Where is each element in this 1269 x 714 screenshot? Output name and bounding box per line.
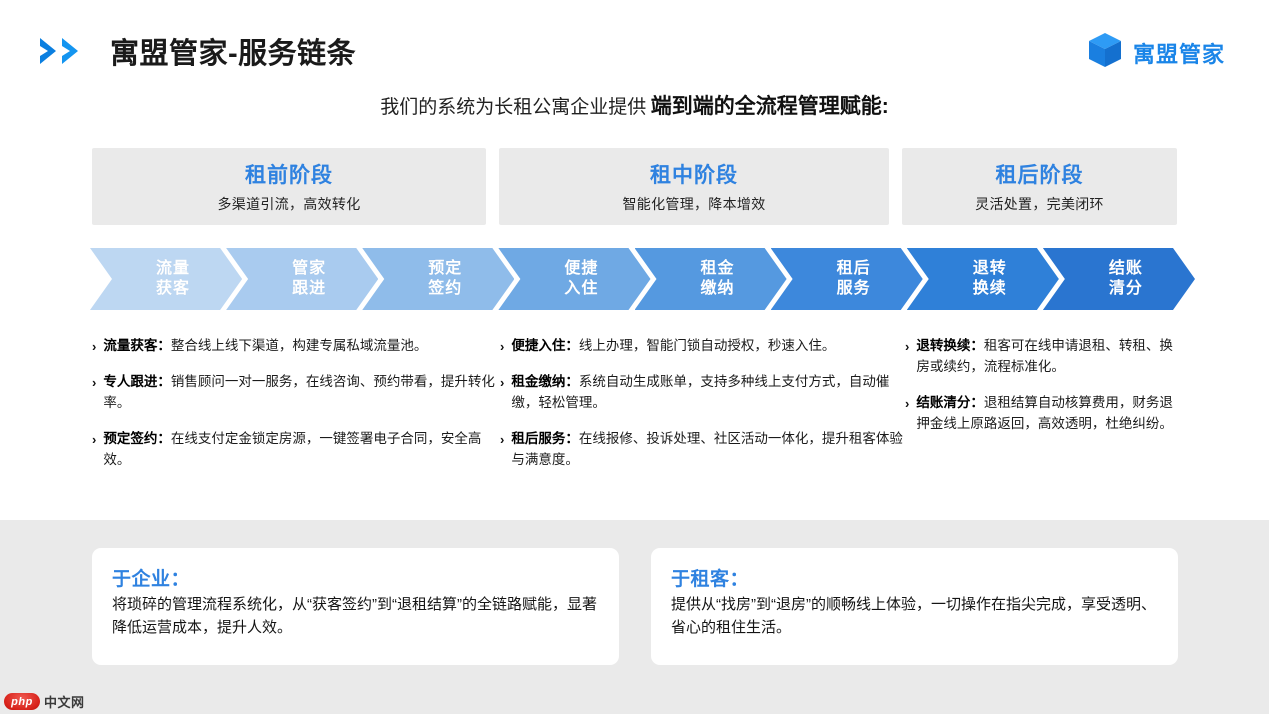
chevron-right-icon: ›: [92, 336, 96, 357]
process-flow-bar: 流量获客管家跟进预定签约便捷入住租金缴纳租后服务退转换续结账清分: [90, 248, 1179, 310]
brand-name: 寓盟管家: [1133, 37, 1225, 69]
benefit-card-row: 于企业： 将琐碎的管理流程系统化，从“获客签约”到“退租结算”的全链路赋能，显著…: [92, 548, 1178, 665]
benefit-card-enterprise: 于企业： 将琐碎的管理流程系统化，从“获客签约”到“退租结算”的全链路赋能，显著…: [92, 548, 619, 665]
benefit-card-tenant: 于租客： 提供从“找房”到“退房”的顺畅线上体验，一切操作在指尖完成，享受透明、…: [651, 548, 1178, 665]
bullet-item: ›结账清分：退租结算自动核算费用，财务退押金线上原路返回，高效透明，杜绝纠纷。: [905, 393, 1182, 435]
chevron-right-icon: ›: [500, 372, 504, 393]
php-badge-icon: php: [4, 693, 40, 710]
bullet-columns: ›流量获客：整合线上线下渠道，构建专属私域流量池。›专人跟进：销售顾问一对一服务…: [92, 336, 1182, 496]
bullet-term: 流量获客：: [103, 338, 171, 353]
flow-step-label: 便捷入住: [550, 259, 598, 300]
subtitle-emphasis: 端到端的全流程管理赋能:: [651, 95, 889, 118]
flow-step-label: 结账清分: [1095, 259, 1143, 300]
flow-step-label: 流量获客: [142, 259, 190, 300]
stage-desc: 多渠道引流，高效转化: [218, 194, 361, 214]
flow-step-1[interactable]: 流量获客: [90, 248, 242, 310]
subtitle-lead: 我们的系统为长租公寓企业提供: [380, 97, 646, 118]
bullet-column-post: ›退转换续：租客可在线申请退租、转租、换房或续约，流程标准化。›结账清分：退租结…: [905, 336, 1182, 496]
stage-card-post: 租后阶段 灵活处置，完美闭环: [902, 148, 1177, 225]
bullet-term: 租后服务：: [511, 431, 579, 446]
bullet-column-pre: ›流量获客：整合线上线下渠道，构建专属私域流量池。›专人跟进：销售顾问一对一服务…: [92, 336, 500, 496]
bullet-term: 结账清分：: [916, 395, 984, 410]
flow-step-label: 租金缴纳: [687, 259, 735, 300]
flow-step-label: 管家跟进: [278, 259, 326, 300]
bullet-term: 专人跟进：: [103, 374, 171, 389]
bullet-item: ›专人跟进：销售顾问一对一服务，在线咨询、预约带看，提升转化率。: [92, 372, 500, 414]
bullet-text: 预定签约：在线支付定金锁定房源，一键签署电子合同，安全高效。: [103, 429, 500, 471]
watermark: php 中文网: [4, 692, 85, 711]
flow-step-5[interactable]: 租金缴纳: [635, 248, 787, 310]
bullet-text: 便捷入住：线上办理，智能门锁自动授权，秒速入住。: [511, 336, 835, 357]
flow-step-8[interactable]: 结账清分: [1043, 248, 1195, 310]
flow-step-7[interactable]: 退转换续: [907, 248, 1059, 310]
stage-card-row: 租前阶段 多渠道引流，高效转化 租中阶段 智能化管理，降本增效 租后阶段 灵活处…: [92, 148, 1177, 225]
stage-card-pre: 租前阶段 多渠道引流，高效转化: [92, 148, 486, 225]
bullet-term: 租金缴纳：: [511, 374, 579, 389]
bullet-text: 退转换续：租客可在线申请退租、转租、换房或续约，流程标准化。: [916, 336, 1182, 378]
stage-title: 租中阶段: [650, 159, 738, 189]
chevron-right-icon: ›: [92, 429, 96, 450]
bullet-item: ›退转换续：租客可在线申请退租、转租、换房或续约，流程标准化。: [905, 336, 1182, 378]
bullet-text: 结账清分：退租结算自动核算费用，财务退押金线上原路返回，高效透明，杜绝纠纷。: [916, 393, 1182, 435]
bullet-text: 租后服务：在线报修、投诉处理、社区活动一体化，提升租客体验与满意度。: [511, 429, 905, 471]
stage-desc: 灵活处置，完美闭环: [975, 194, 1104, 214]
bullet-text: 专人跟进：销售顾问一对一服务，在线咨询、预约带看，提升转化率。: [103, 372, 500, 414]
flow-step-6[interactable]: 租后服务: [771, 248, 923, 310]
flow-step-2[interactable]: 管家跟进: [226, 248, 378, 310]
bullet-column-mid: ›便捷入住：线上办理，智能门锁自动授权，秒速入住。›租金缴纳：系统自动生成账单，…: [500, 336, 905, 496]
flow-step-3[interactable]: 预定签约: [362, 248, 514, 310]
page-title: 寓盟管家-服务链条: [110, 30, 356, 72]
cube-icon: [1088, 32, 1122, 73]
brand-block: 寓盟管家: [1088, 32, 1225, 73]
bullet-item: ›租后服务：在线报修、投诉处理、社区活动一体化，提升租客体验与满意度。: [500, 429, 905, 471]
bullet-text: 流量获客：整合线上线下渠道，构建专属私域流量池。: [103, 336, 427, 357]
double-chevron-icon: [38, 36, 94, 66]
flow-step-label: 退转换续: [959, 259, 1007, 300]
bullet-text: 租金缴纳：系统自动生成账单，支持多种线上支付方式，自动催缴，轻松管理。: [511, 372, 905, 414]
watermark-text: 中文网: [44, 692, 85, 711]
slide-header: 寓盟管家-服务链条 寓盟管家: [0, 0, 1269, 92]
flow-step-4[interactable]: 便捷入住: [498, 248, 650, 310]
benefit-card-body: 提供从“找房”到“退房”的顺畅线上体验，一切操作在指尖完成，享受透明、省心的租住…: [671, 594, 1158, 640]
bullet-item: ›预定签约：在线支付定金锁定房源，一键签署电子合同，安全高效。: [92, 429, 500, 471]
benefit-card-body: 将琐碎的管理流程系统化，从“获客签约”到“退租结算”的全链路赋能，显著降低运营成…: [112, 594, 599, 640]
slide-root: 寓盟管家-服务链条 寓盟管家 我们的系统为长租公寓企业提供 端到端的全流程管理赋…: [0, 0, 1269, 714]
bullet-item: ›便捷入住：线上办理，智能门锁自动授权，秒速入住。: [500, 336, 905, 357]
chevron-right-icon: ›: [905, 336, 909, 357]
bullet-item: ›流量获客：整合线上线下渠道，构建专属私域流量池。: [92, 336, 500, 357]
benefit-card-title: 于租客：: [671, 564, 1158, 591]
bullet-term: 退转换续：: [916, 338, 984, 353]
chevron-right-icon: ›: [500, 429, 504, 450]
chevron-right-icon: ›: [905, 393, 909, 414]
chevron-right-icon: ›: [92, 372, 96, 393]
title-block: 寓盟管家-服务链条: [38, 30, 356, 72]
subtitle-line: 我们的系统为长租公寓企业提供 端到端的全流程管理赋能:: [0, 90, 1269, 120]
bullet-term: 便捷入住：: [511, 338, 579, 353]
stage-card-mid: 租中阶段 智能化管理，降本增效: [499, 148, 889, 225]
flow-step-label: 预定签约: [414, 259, 462, 300]
stage-title: 租后阶段: [996, 159, 1084, 189]
bullet-term: 预定签约：: [103, 431, 171, 446]
chevron-right-icon: ›: [500, 336, 504, 357]
bullet-item: ›租金缴纳：系统自动生成账单，支持多种线上支付方式，自动催缴，轻松管理。: [500, 372, 905, 414]
flow-step-label: 租后服务: [823, 259, 871, 300]
benefit-card-title: 于企业：: [112, 564, 599, 591]
stage-desc: 智能化管理，降本增效: [623, 194, 766, 214]
stage-title: 租前阶段: [245, 159, 333, 189]
